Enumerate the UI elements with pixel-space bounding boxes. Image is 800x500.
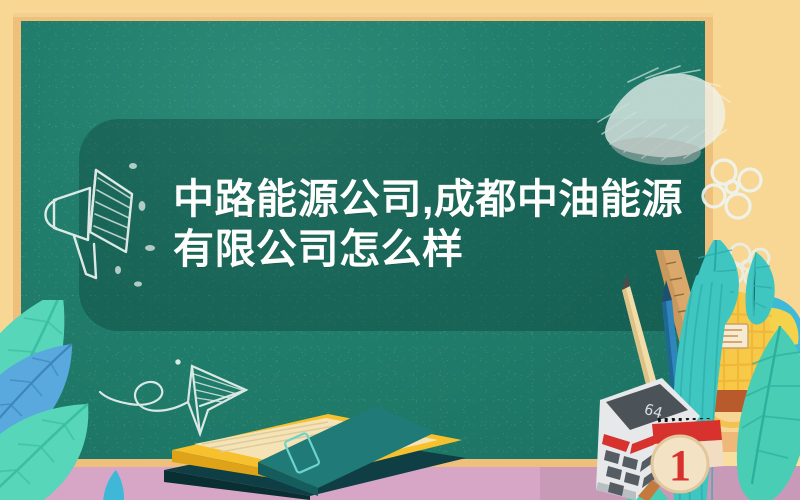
magnifier-number: 1 [669, 441, 691, 490]
chalkboard-frame-highlight [13, 13, 713, 17]
magnifying-glass-icon: 1 [634, 418, 730, 500]
book-stack [150, 392, 480, 500]
banner-image: 中路能源公司,成都中油能源有限公司怎么样 [0, 0, 800, 500]
